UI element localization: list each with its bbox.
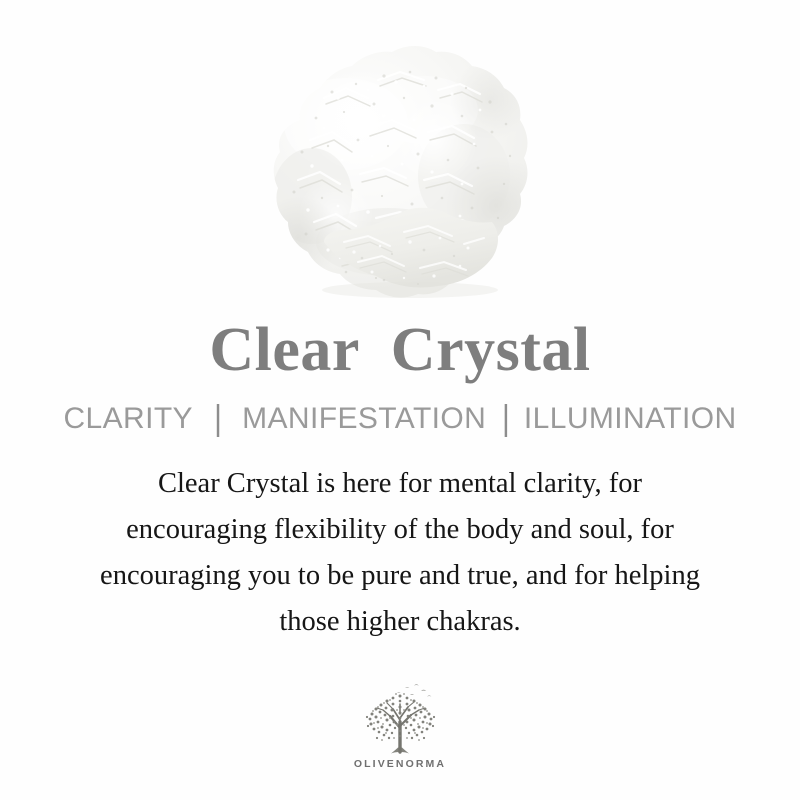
product-description: Clear Crystal is here for mental clarity… (50, 461, 750, 645)
keyword-line: CLARITY | MANIFESTATION | ILLUMINATION (0, 402, 800, 435)
page-title: Clear Crystal (0, 318, 800, 383)
brand-logo: OLIVENORMA (0, 682, 800, 770)
product-text-block: Clear Crystal CLARITY | MANIFESTATION | … (0, 318, 800, 645)
keyword-separator-1: | (214, 399, 222, 438)
clear-quartz-crystal-photo (228, 28, 548, 308)
keyword-separator-2: | (502, 399, 510, 438)
keyword-illumination: ILLUMINATION (524, 402, 737, 435)
product-image-area (0, 0, 800, 315)
description-line: those higher chakras. (50, 599, 750, 645)
keyword-clarity: CLARITY (63, 402, 192, 435)
keyword-manifestation: MANIFESTATION (242, 402, 486, 435)
tree-of-life-with-birds-icon (357, 682, 443, 756)
brand-name: OLIVENORMA (0, 758, 800, 770)
description-line: Clear Crystal is here for mental clarity… (50, 461, 750, 507)
description-line: encouraging flexibility of the body and … (50, 507, 750, 553)
description-line: encouraging you to be pure and true, and… (50, 553, 750, 599)
clear-crystal-product-card: Clear Crystal CLARITY | MANIFESTATION | … (0, 0, 800, 800)
